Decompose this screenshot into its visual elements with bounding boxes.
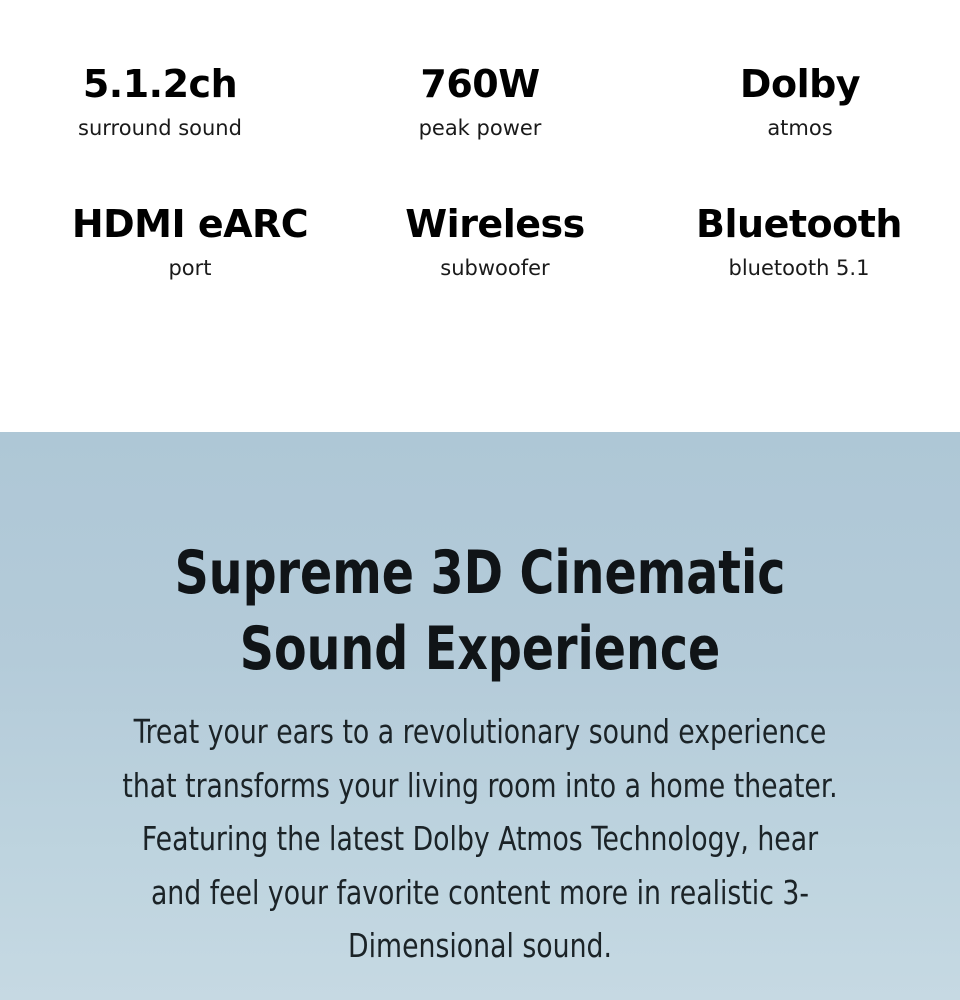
hero-section: Supreme 3D Cinematic Sound Experience Tr… [0, 432, 960, 1000]
spec-cell-bluetooth: Bluetooth bluetooth 5.1 [639, 202, 959, 282]
spec-row-primary: 5.1.2ch surround sound 760W peak power D… [0, 62, 960, 142]
spec-label: peak power [419, 114, 542, 142]
spec-value: HDMI eARC [72, 202, 308, 247]
spec-value: Dolby [740, 62, 860, 107]
hero-title: Supreme 3D Cinematic Sound Experience [146, 536, 815, 687]
spec-label: surround sound [78, 114, 242, 142]
spec-value: 5.1.2ch [83, 62, 237, 107]
spec-value: Wireless [405, 202, 585, 247]
spec-cell-surround-sound: 5.1.2ch surround sound [0, 62, 320, 142]
product-feature-page: 5.1.2ch surround sound 760W peak power D… [0, 0, 960, 1000]
spec-row-secondary: HDMI eARC port Wireless subwoofer Blueto… [0, 202, 960, 282]
spec-label: port [168, 254, 211, 282]
hero-description: Treat your ears to a revolutionary sound… [120, 705, 840, 972]
spec-value: Bluetooth [696, 202, 902, 247]
spec-label: atmos [767, 114, 832, 142]
specifications-section: 5.1.2ch surround sound 760W peak power D… [0, 0, 960, 432]
spec-cell-wireless-subwoofer: Wireless subwoofer [335, 202, 655, 282]
spec-cell-peak-power: 760W peak power [320, 62, 640, 142]
spec-cell-hdmi-earc: HDMI eARC port [30, 202, 350, 282]
spec-label: bluetooth 5.1 [729, 254, 870, 282]
spec-label: subwoofer [440, 254, 549, 282]
spec-cell-dolby-atmos: Dolby atmos [640, 62, 960, 142]
spec-value: 760W [420, 62, 539, 107]
